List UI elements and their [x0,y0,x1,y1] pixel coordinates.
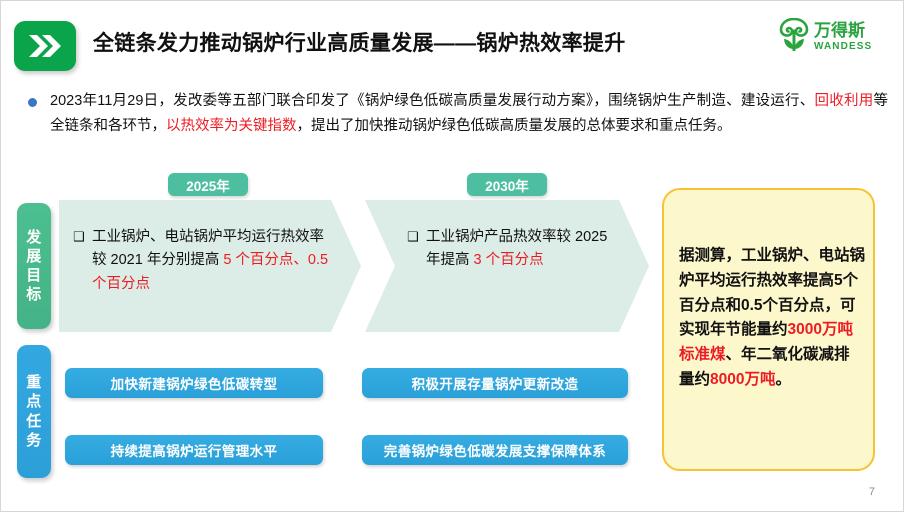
chevron-step-2025: ❑ 工业锅炉、电站锅炉平均运行热效率较 2021 年分别提高 5 个百分点、0.… [59,200,361,332]
chevron-step-2030-text: 工业锅炉产品热效率较 2025 年提高 3 个百分点 [426,226,621,273]
double-chevron-right-icon [14,21,76,71]
year-badge-2025: 2025年 [168,173,248,196]
task-pill-new-boiler-transition[interactable]: 加快新建锅炉绿色低碳转型 [65,368,323,398]
intro-paragraph: 2023年11月29日，发改委等五部门联合印发了《锅炉绿色低碳高质量发展行动方案… [28,89,888,139]
task-pill-existing-boiler-upgrade[interactable]: 积极开展存量锅炉更新改造 [362,368,628,398]
section-tab-development-goals: 发展目标 [17,203,51,329]
chevron-step-2025-body: ❑ 工业锅炉、电站锅炉平均运行热效率较 2021 年分别提高 5 个百分点、0.… [73,226,331,296]
logo-wordmark: 万得斯 WANDESS [814,22,872,52]
estimate-callout-box: 据测算，工业锅炉、电站锅炉平均运行热效率提高5个百分点和0.5个百分点，可实现年… [662,188,875,471]
chevron-step-2030-body: ❑ 工业锅炉产品热效率较 2025 年提高 3 个百分点 [407,226,621,273]
checkbox-marker-icon: ❑ [407,230,419,243]
checkbox-marker-icon: ❑ [73,230,85,243]
logo-chinese-name: 万得斯 [814,22,872,39]
slide-header: 全链条发力推动锅炉行业高质量发展——锅炉热效率提升 万得斯 WANDESS [1,1,904,79]
wandess-plant-logo-icon [779,18,809,56]
intro-text: 2023年11月29日，发改委等五部门联合印发了《锅炉绿色低碳高质量发展行动方案… [50,89,888,139]
chevron-step-2025-text: 工业锅炉、电站锅炉平均运行热效率较 2021 年分别提高 5 个百分点、0.5 … [92,226,331,296]
page-number: 7 [869,486,875,498]
year-badge-2030: 2030年 [467,173,547,196]
company-logo: 万得斯 WANDESS [779,15,891,59]
goal-chevron-row: ❑ 工业锅炉、电站锅炉平均运行热效率较 2021 年分别提高 5 个百分点、0.… [59,200,649,332]
slide-canvas: 全链条发力推动锅炉行业高质量发展——锅炉热效率提升 万得斯 WANDESS 20… [0,0,904,512]
page-title: 全链条发力推动锅炉行业高质量发展——锅炉热效率提升 [93,27,626,57]
estimate-callout-text: 据测算，工业锅炉、电站锅炉平均运行热效率提高5个百分点和0.5个百分点，可实现年… [679,244,865,393]
bullet-point-icon [28,98,37,107]
section-tab-key-tasks: 重点任务 [17,345,51,478]
task-pill-support-system[interactable]: 完善锅炉绿色低碳发展支撑保障体系 [362,435,628,465]
logo-english-name: WANDESS [814,42,872,52]
task-pill-operation-management[interactable]: 持续提高锅炉运行管理水平 [65,435,323,465]
chevron-step-2030: ❑ 工业锅炉产品热效率较 2025 年提高 3 个百分点 [365,200,649,332]
